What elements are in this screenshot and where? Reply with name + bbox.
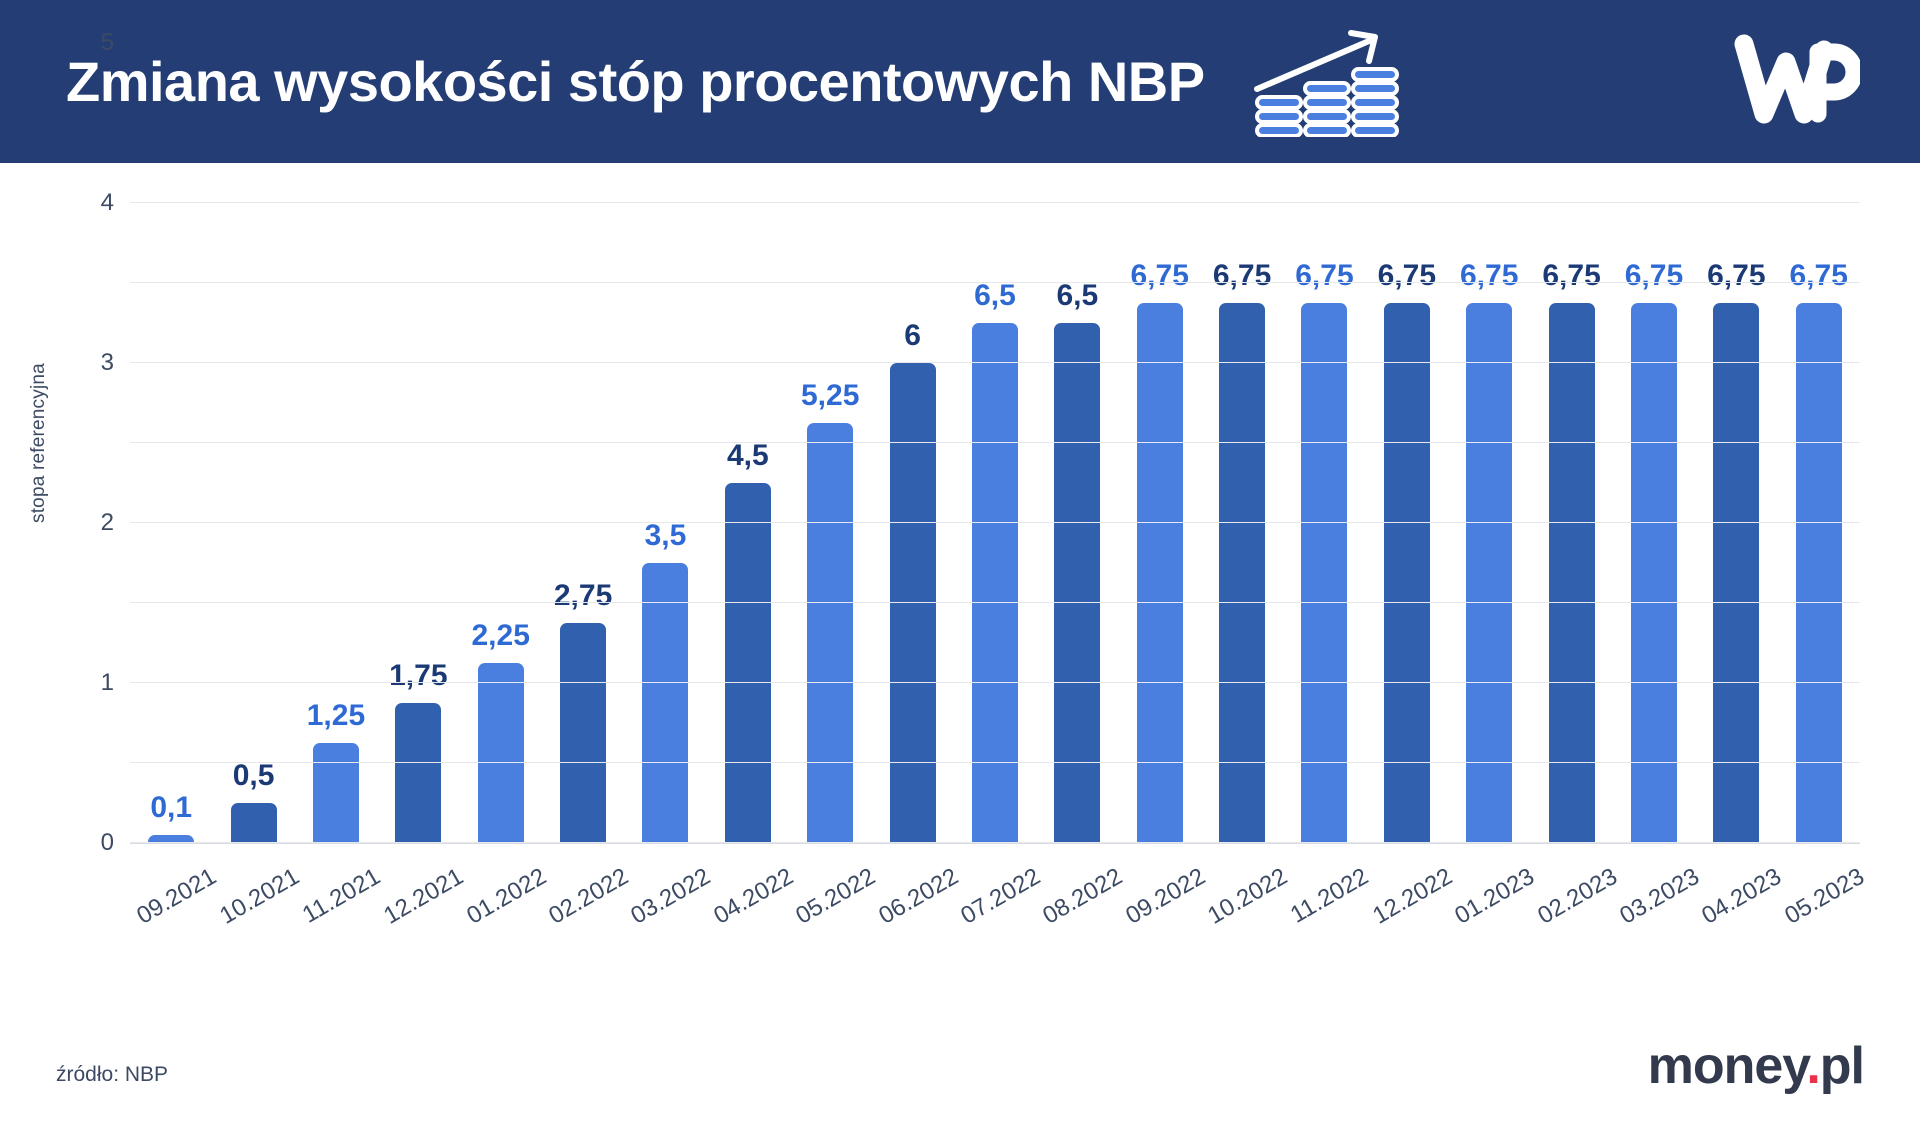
x-axis-tick-label: 01.2022 — [462, 863, 551, 931]
bar[interactable] — [725, 483, 771, 843]
x-axis-tick-label: 03.2022 — [627, 863, 716, 931]
bar-slot: 6,75 — [1283, 203, 1365, 843]
x-axis-tick-label: 06.2022 — [874, 863, 963, 931]
money-logo-suffix: pl — [1820, 1037, 1864, 1095]
bar-value-label: 6,5 — [974, 281, 1016, 311]
x-axis-baseline — [130, 843, 1860, 844]
bar-value-label: 0,1 — [150, 793, 192, 823]
page-header: Zmiana wysokości stóp procentowych NBP — [0, 0, 1920, 163]
x-axis-label-slot: 09.2022 — [1119, 853, 1201, 1003]
bar-slot: 6 — [871, 203, 953, 843]
bar-slot: 4,5 — [707, 203, 789, 843]
x-axis-label-slot: 12.2022 — [1366, 853, 1448, 1003]
x-axis-label-slot: 05.2023 — [1778, 853, 1860, 1003]
bar-slot: 6,5 — [954, 203, 1036, 843]
money-logo-dot: . — [1806, 1037, 1819, 1095]
bar-value-label: 6,5 — [1056, 281, 1098, 311]
bar-slot: 6,75 — [1366, 203, 1448, 843]
bar-value-label: 6,75 — [1625, 261, 1683, 291]
x-axis-label-slot: 06.2022 — [871, 853, 953, 1003]
x-axis-tick-label: 05.2022 — [791, 863, 880, 931]
x-axis-tick-label: 11.2022 — [1286, 863, 1374, 930]
x-axis-label-slot: 09.2021 — [130, 853, 212, 1003]
bar-slot: 6,75 — [1201, 203, 1283, 843]
bar-value-label: 4,5 — [727, 441, 769, 471]
x-axis-label-slot: 02.2023 — [1530, 853, 1612, 1003]
y-axis-tick-label: 4 — [101, 189, 114, 217]
x-axis-label-slot: 04.2022 — [707, 853, 789, 1003]
bar-value-label: 6,75 — [1295, 261, 1353, 291]
y-axis-tick-label: 2 — [101, 509, 114, 537]
x-axis-tick-label: 12.2022 — [1368, 863, 1457, 931]
bar-value-label: 0,5 — [233, 761, 275, 791]
money-pl-logo: money.pl — [1648, 1040, 1864, 1092]
gridline: 8 — [130, 202, 1860, 203]
bar-slot: 1,75 — [377, 203, 459, 843]
x-axis-label-slot: 03.2022 — [624, 853, 706, 1003]
bar[interactable] — [313, 743, 359, 843]
x-axis-tick-label: 04.2023 — [1698, 863, 1787, 931]
source-note: źródło: NBP — [56, 1063, 168, 1087]
bar[interactable] — [890, 363, 936, 843]
bar-value-label: 6,75 — [1460, 261, 1518, 291]
x-axis-label-slot: 11.2021 — [295, 853, 377, 1003]
x-axis-tick-label: 12.2021 — [380, 863, 469, 931]
chart-area: stopa referencyjna 0,10,51,251,752,252,7… — [0, 163, 1920, 1129]
x-axis-tick-label: 09.2022 — [1121, 863, 1210, 931]
bar-value-label: 2,25 — [471, 621, 529, 651]
bar[interactable] — [560, 623, 606, 843]
gridline: 4 — [130, 522, 1860, 523]
x-axis-label-slot: 03.2023 — [1613, 853, 1695, 1003]
bar-value-label: 6,75 — [1378, 261, 1436, 291]
x-axis-tick-label: 03.2023 — [1615, 863, 1704, 931]
bar-value-label: 6 — [904, 321, 921, 351]
bar-slot: 6,75 — [1119, 203, 1201, 843]
bar-slot: 6,75 — [1695, 203, 1777, 843]
y-axis-tick-label: 0 — [101, 829, 114, 857]
gridline: 6 — [130, 362, 1860, 363]
gridline: 5 — [130, 442, 1860, 443]
bar-slot: 6,5 — [1036, 203, 1118, 843]
x-axis-tick-label: 05.2023 — [1780, 863, 1869, 931]
bar-slot: 3,5 — [624, 203, 706, 843]
y-axis-tick-label: 5 — [101, 29, 114, 57]
bar-value-label: 6,75 — [1789, 261, 1847, 291]
wp-logo — [1730, 28, 1860, 128]
bar[interactable] — [395, 703, 441, 843]
x-axis-label-slot: 08.2022 — [1036, 853, 1118, 1003]
x-axis-label-slot: 01.2022 — [460, 853, 542, 1003]
bar[interactable] — [807, 423, 853, 843]
x-axis-tick-label: 02.2023 — [1533, 863, 1622, 931]
x-axis-labels: 09.202110.202111.202112.202101.202202.20… — [130, 853, 1860, 1003]
gridline: 3 — [130, 602, 1860, 603]
x-axis-tick-label: 08.2022 — [1039, 863, 1128, 931]
bar-slot: 0,5 — [212, 203, 294, 843]
y-axis-title: stopa referencyjna — [28, 263, 50, 523]
bar[interactable] — [1054, 323, 1100, 843]
bar-series: 0,10,51,251,752,252,753,54,55,2566,56,56… — [130, 203, 1860, 843]
bar[interactable] — [642, 563, 688, 843]
x-axis-label-slot: 04.2023 — [1695, 853, 1777, 1003]
x-axis-tick-label: 04.2022 — [709, 863, 798, 931]
bar-value-label: 2,75 — [554, 581, 612, 611]
x-axis-tick-label: 01.2023 — [1450, 863, 1539, 931]
x-axis-label-slot: 10.2022 — [1201, 853, 1283, 1003]
x-axis-label-slot: 11.2022 — [1283, 853, 1365, 1003]
x-axis-tick-label: 07.2022 — [956, 863, 1045, 931]
x-axis-label-slot: 10.2021 — [212, 853, 294, 1003]
bar-value-label: 6,75 — [1542, 261, 1600, 291]
x-axis-label-slot: 05.2022 — [789, 853, 871, 1003]
x-axis-label-slot: 12.2021 — [377, 853, 459, 1003]
bar-slot: 0,1 — [130, 203, 212, 843]
page-title: Zmiana wysokości stóp procentowych NBP — [66, 54, 1205, 110]
y-axis-tick-label: 1 — [101, 669, 114, 697]
bar-slot: 6,75 — [1613, 203, 1695, 843]
coins-growth-arrow-icon — [1251, 27, 1401, 137]
bar-value-label: 6,75 — [1130, 261, 1188, 291]
x-axis-tick-label: 10.2022 — [1203, 863, 1292, 931]
bar-value-label: 3,5 — [645, 521, 687, 551]
bar-value-label: 6,75 — [1707, 261, 1765, 291]
x-axis-tick-label: 10.2021 — [215, 863, 304, 931]
gridline: 7 — [130, 282, 1860, 283]
x-axis-label-slot: 07.2022 — [954, 853, 1036, 1003]
bar-value-label: 1,75 — [389, 661, 447, 691]
bar[interactable] — [972, 323, 1018, 843]
gridline: 2 — [130, 682, 1860, 683]
x-axis-label-slot: 02.2022 — [542, 853, 624, 1003]
x-axis-label-slot: 01.2023 — [1448, 853, 1530, 1003]
bar-value-label: 5,25 — [801, 381, 859, 411]
x-axis-tick-label: 11.2021 — [298, 863, 386, 930]
bar-slot: 6,75 — [1530, 203, 1612, 843]
x-axis-tick-label: 02.2022 — [544, 863, 633, 931]
bar-slot: 5,25 — [789, 203, 871, 843]
bar-slot: 2,25 — [460, 203, 542, 843]
gridline: 1 — [130, 762, 1860, 763]
y-axis-tick-label: 3 — [101, 349, 114, 377]
bar[interactable] — [231, 803, 277, 843]
plot-grid: 0,10,51,251,752,252,753,54,55,2566,56,56… — [130, 203, 1860, 843]
bar-slot: 6,75 — [1778, 203, 1860, 843]
bar-slot: 6,75 — [1448, 203, 1530, 843]
bar-slot: 1,25 — [295, 203, 377, 843]
bar[interactable] — [478, 663, 524, 843]
money-logo-text: money — [1648, 1037, 1807, 1095]
x-axis-tick-label: 09.2021 — [132, 863, 221, 931]
bar-slot: 2,75 — [542, 203, 624, 843]
bar-value-label: 1,25 — [307, 701, 365, 731]
bar-value-label: 6,75 — [1213, 261, 1271, 291]
